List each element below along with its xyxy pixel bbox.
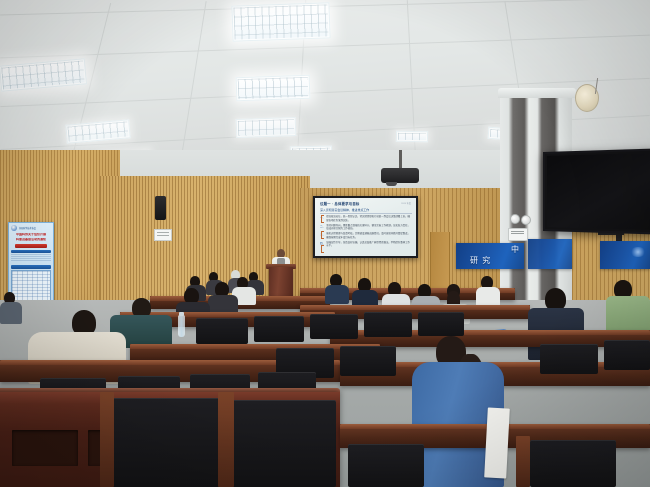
wall-banner-middle <box>528 239 572 269</box>
seat-back <box>310 314 358 339</box>
slide-title: 议题一 · 总体要求与目标 <box>320 201 412 206</box>
projector-icon <box>381 168 419 183</box>
poster-body-text-1 <box>11 254 51 263</box>
seat-divider-post <box>218 392 234 487</box>
column-wall-plate[interactable] <box>508 228 528 241</box>
slide-subtitle: 深入贯彻落实会议精神，推进重点工作 <box>320 208 412 212</box>
poster-header: 中国科学技术协会 <box>11 225 51 231</box>
column-cap <box>498 88 576 98</box>
poster-section-bar-1 <box>11 250 51 254</box>
wall-banner-left: 中 研 究 <box>456 243 524 269</box>
slide-bullet-text: 提高政治站位，统一思想认识，切实把思想和行动统一到会议决策部署上来，确保各项任务… <box>326 215 412 222</box>
seat-back <box>196 318 248 344</box>
seat-divider-post <box>516 436 530 487</box>
seat-back <box>254 316 304 342</box>
projector-lens-icon <box>386 182 397 186</box>
poster-logo-text: 中国科学技术协会 <box>19 226 37 230</box>
water-bottle <box>178 315 185 337</box>
slide-margin-mark <box>321 215 324 223</box>
slide-divider <box>320 213 412 214</box>
slide-margin-mark <box>321 245 324 253</box>
wall-speaker-icon <box>155 196 166 220</box>
seat-back <box>340 346 396 376</box>
poster-red-bar <box>15 244 47 248</box>
poster-headline-1: 中国科协关于组织开展 <box>11 233 51 237</box>
side-door[interactable] <box>430 232 450 294</box>
seat-divider-post <box>100 392 114 487</box>
poster-headline-2: 科普进基层活动的通知 <box>11 238 51 242</box>
slide-bullet: 四、 加强宣传引导，营造良好氛围，认真总结推广典型经验做法，不断提升整体工作水平… <box>320 241 412 248</box>
paper-stack <box>484 407 510 478</box>
seat-back <box>364 312 412 337</box>
slide-margin-mark <box>321 231 324 239</box>
projector-mount <box>399 150 402 170</box>
monitor-screen <box>547 153 650 230</box>
podium <box>269 267 293 297</box>
ceiling-light-3 <box>236 75 311 102</box>
wall-banner-right <box>600 241 650 269</box>
torso <box>325 285 349 304</box>
wall-control-panel[interactable] <box>154 229 172 241</box>
seat-back <box>540 344 598 374</box>
seat-back-front <box>348 444 424 487</box>
wall-monitor[interactable] <box>543 148 650 234</box>
poster-logo-icon <box>11 225 17 231</box>
torso <box>0 302 22 324</box>
slide-bullet: 一、 提高政治站位，统一思想认识，切实把思想和行动统一到会议决策部署上来，确保各… <box>320 215 412 222</box>
seat-back-front <box>232 400 336 487</box>
banner-glow <box>630 247 646 257</box>
ceiling-light-2 <box>231 2 330 41</box>
seat-back-front <box>110 398 220 487</box>
meeting-room-photo: 2024 年度 议题一 · 总体要求与目标 深入贯彻落实会议精神，推进重点工作 … <box>0 0 650 487</box>
column-knob-icon <box>510 214 520 224</box>
ceiling-light-4 <box>236 117 297 138</box>
projection-screen: 2024 年度 议题一 · 总体要求与目标 深入贯彻落实会议精神，推进重点工作 … <box>313 196 418 258</box>
seat-back-front <box>530 440 616 487</box>
slide-bullet-number: 二、 <box>320 224 325 231</box>
column-knob-icon <box>521 215 531 225</box>
seat-back <box>418 312 464 336</box>
slide-bullet-text: 加强宣传引导，营造良好氛围，认真总结推广典型经验做法，不断提升整体工作水平。 <box>326 241 412 248</box>
banner-text-secondary: 研 究 <box>470 255 491 266</box>
slide-corner-note: 2024 年度 <box>401 201 411 205</box>
poster-table <box>11 270 51 302</box>
slide-bullet: 二、 坚持问题导向，聚焦重点领域和关键环节，健全完善工作机制，压实各方责任，形成… <box>320 224 412 231</box>
desk-cubby <box>12 430 78 466</box>
seat-back <box>604 340 650 370</box>
poster-section-bar-2 <box>11 265 51 269</box>
slide-bullet-text: 强化过程管理与监督考核，定期调度通报进展情况，及时发现问题并督促整改，确保按期完… <box>326 232 412 239</box>
banner-text-primary: 中 <box>511 244 520 255</box>
projection-screen-surface: 2024 年度 议题一 · 总体要求与目标 深入贯彻落实会议精神，推进重点工作 … <box>315 198 416 256</box>
slide-bullet-text: 坚持问题导向，聚焦重点领域和关键环节，健全完善工作机制，压实各方责任，形成齐抓共… <box>326 224 412 231</box>
slide-content: 2024 年度 议题一 · 总体要求与目标 深入贯彻落实会议精神，推进重点工作 … <box>320 201 412 253</box>
ceiling-light-9 <box>396 131 428 143</box>
water-bottle-cap <box>179 312 184 316</box>
slide-bullet: 三、 强化过程管理与监督考核，定期调度通报进展情况，及时发现问题并督促整改，确保… <box>320 232 412 239</box>
